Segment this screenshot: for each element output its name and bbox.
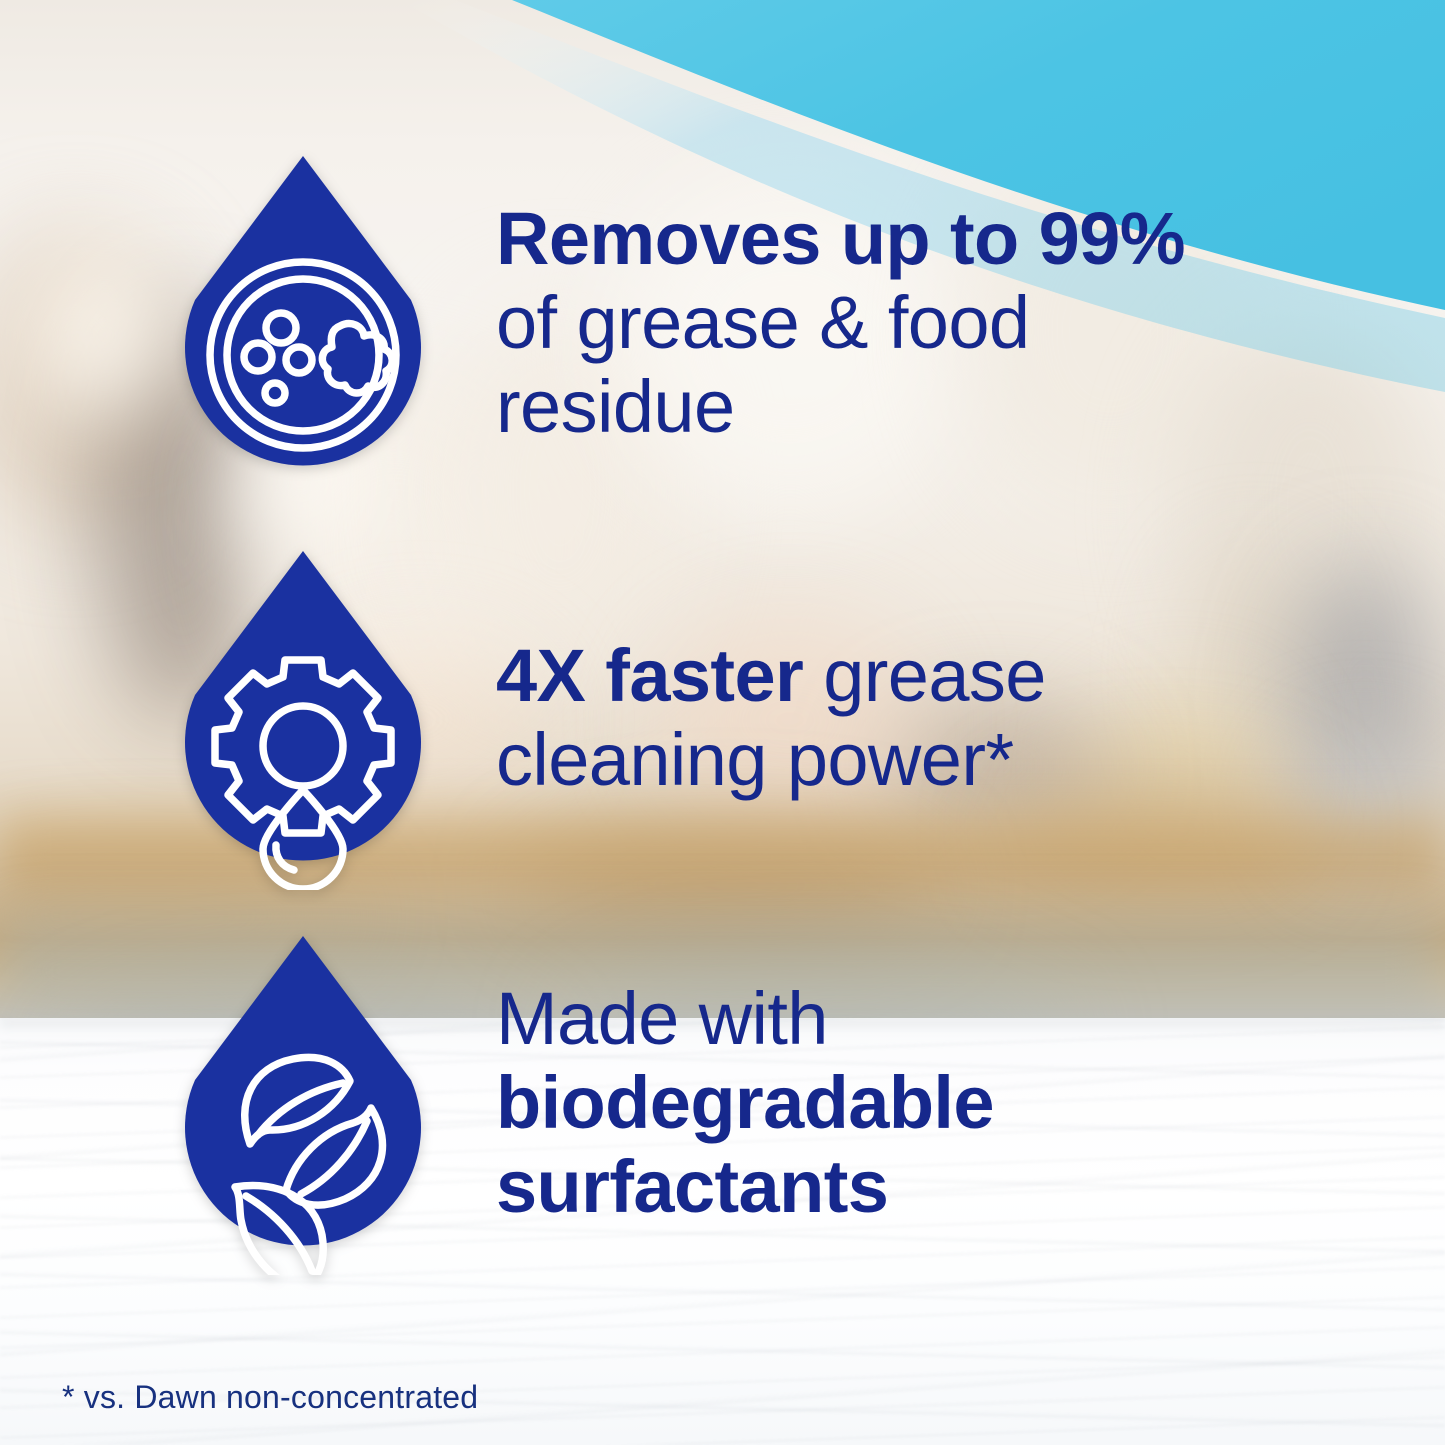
- feature-row-2: 4X faster grease cleaning power*: [0, 545, 1226, 890]
- feature-text-2-lead: 4X faster: [496, 634, 803, 717]
- droplet-gear-drop-icon: [175, 545, 431, 890]
- droplet-recycle-leaves-icon: [175, 930, 431, 1275]
- feature-text-3: Made with biodegradable surfactants: [496, 977, 1226, 1229]
- feature-text-1-rest: of grease & food residue: [496, 281, 1029, 448]
- feature-text-3-lead: Made with: [496, 977, 828, 1060]
- droplet-dirty-plate-icon: [175, 150, 431, 495]
- feature-row-1: Removes up to 99% of grease & food resid…: [0, 150, 1226, 495]
- feature-text-1-lead: Removes up to 99%: [496, 197, 1185, 280]
- feature-text-1: Removes up to 99% of grease & food resid…: [496, 197, 1226, 449]
- product-feature-graphic: Removes up to 99% of grease & food resid…: [0, 0, 1445, 1445]
- footnote-disclaimer: * vs. Dawn non-concentrated: [62, 1378, 478, 1416]
- feature-row-3: Made with biodegradable surfactants: [0, 930, 1226, 1275]
- feature-text-3-rest: biodegradable surfactants: [496, 1061, 994, 1228]
- feature-text-2: 4X faster grease cleaning power*: [496, 634, 1226, 802]
